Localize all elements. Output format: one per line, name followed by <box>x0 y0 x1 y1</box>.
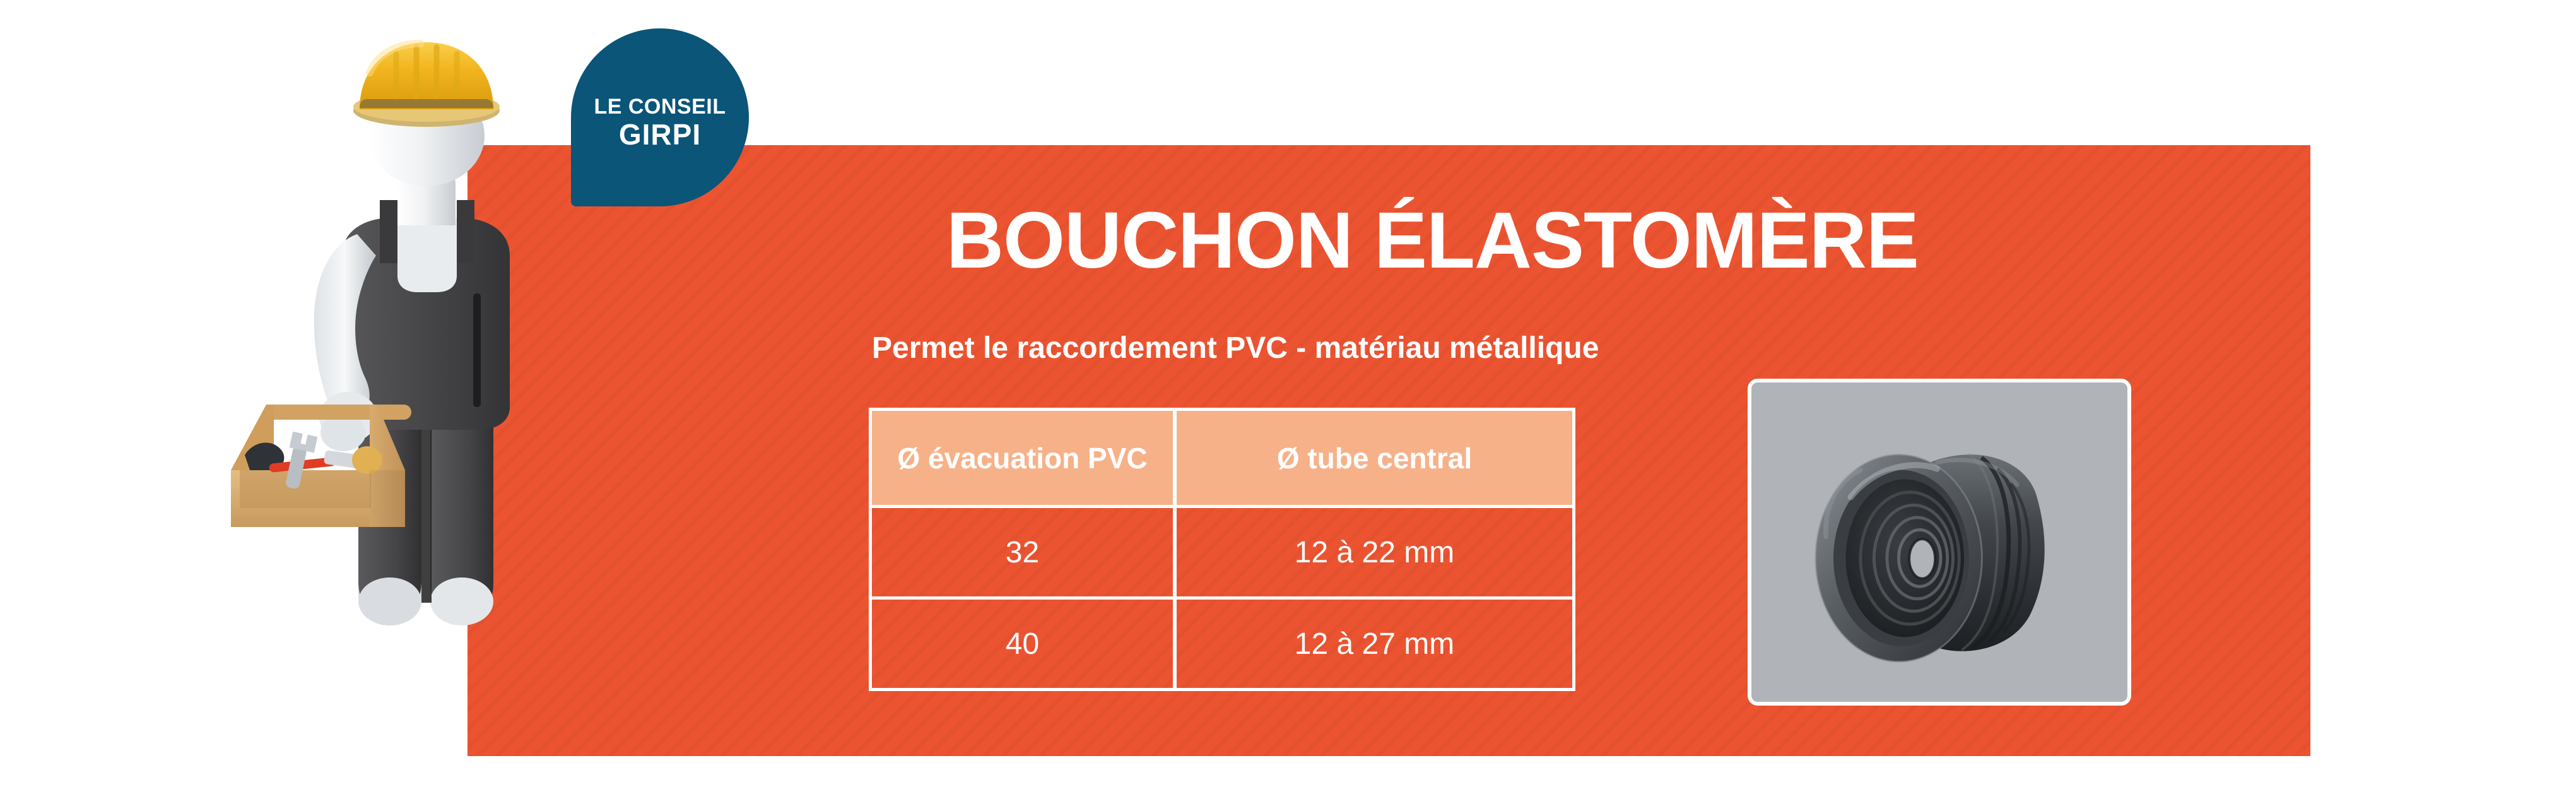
cell-diametre-evacuation-pvc: 40 <box>869 600 1175 691</box>
page-subtitle: Permet le raccordement PVC - matériau mé… <box>872 332 1599 365</box>
product-photo-elastomer-plug <box>1751 382 2127 702</box>
badge-line-2: GIRPI <box>619 119 701 151</box>
cell-diametre-tube-central: 12 à 27 mm <box>1175 600 1575 691</box>
mascot-head <box>353 42 500 186</box>
table-header-row: Ø évacuation PVC Ø tube central <box>869 408 1575 508</box>
column-header-diametre-tube-central: Ø tube central <box>1175 408 1575 508</box>
badge-line-1: LE CONSEIL <box>594 95 726 119</box>
title-block: BOUCHON ÉLASTOMÈRE <box>946 201 2259 280</box>
product-image-card <box>1748 379 2131 706</box>
column-header-diametre-evacuation-pvc: Ø évacuation PVC <box>869 408 1175 508</box>
cell-diametre-tube-central: 12 à 22 mm <box>1175 508 1575 600</box>
page-title: BOUCHON ÉLASTOMÈRE <box>946 201 2259 280</box>
spec-table: Ø évacuation PVC Ø tube central 32 12 à … <box>869 408 1575 691</box>
table-row: 40 12 à 27 mm <box>869 600 1575 691</box>
banner-canvas: BOUCHON ÉLASTOMÈRE Permet le raccordemen… <box>0 0 2576 799</box>
workman-mascot <box>208 28 599 660</box>
table-row: 32 12 à 22 mm <box>869 508 1575 600</box>
cell-diametre-evacuation-pvc: 32 <box>869 508 1175 600</box>
